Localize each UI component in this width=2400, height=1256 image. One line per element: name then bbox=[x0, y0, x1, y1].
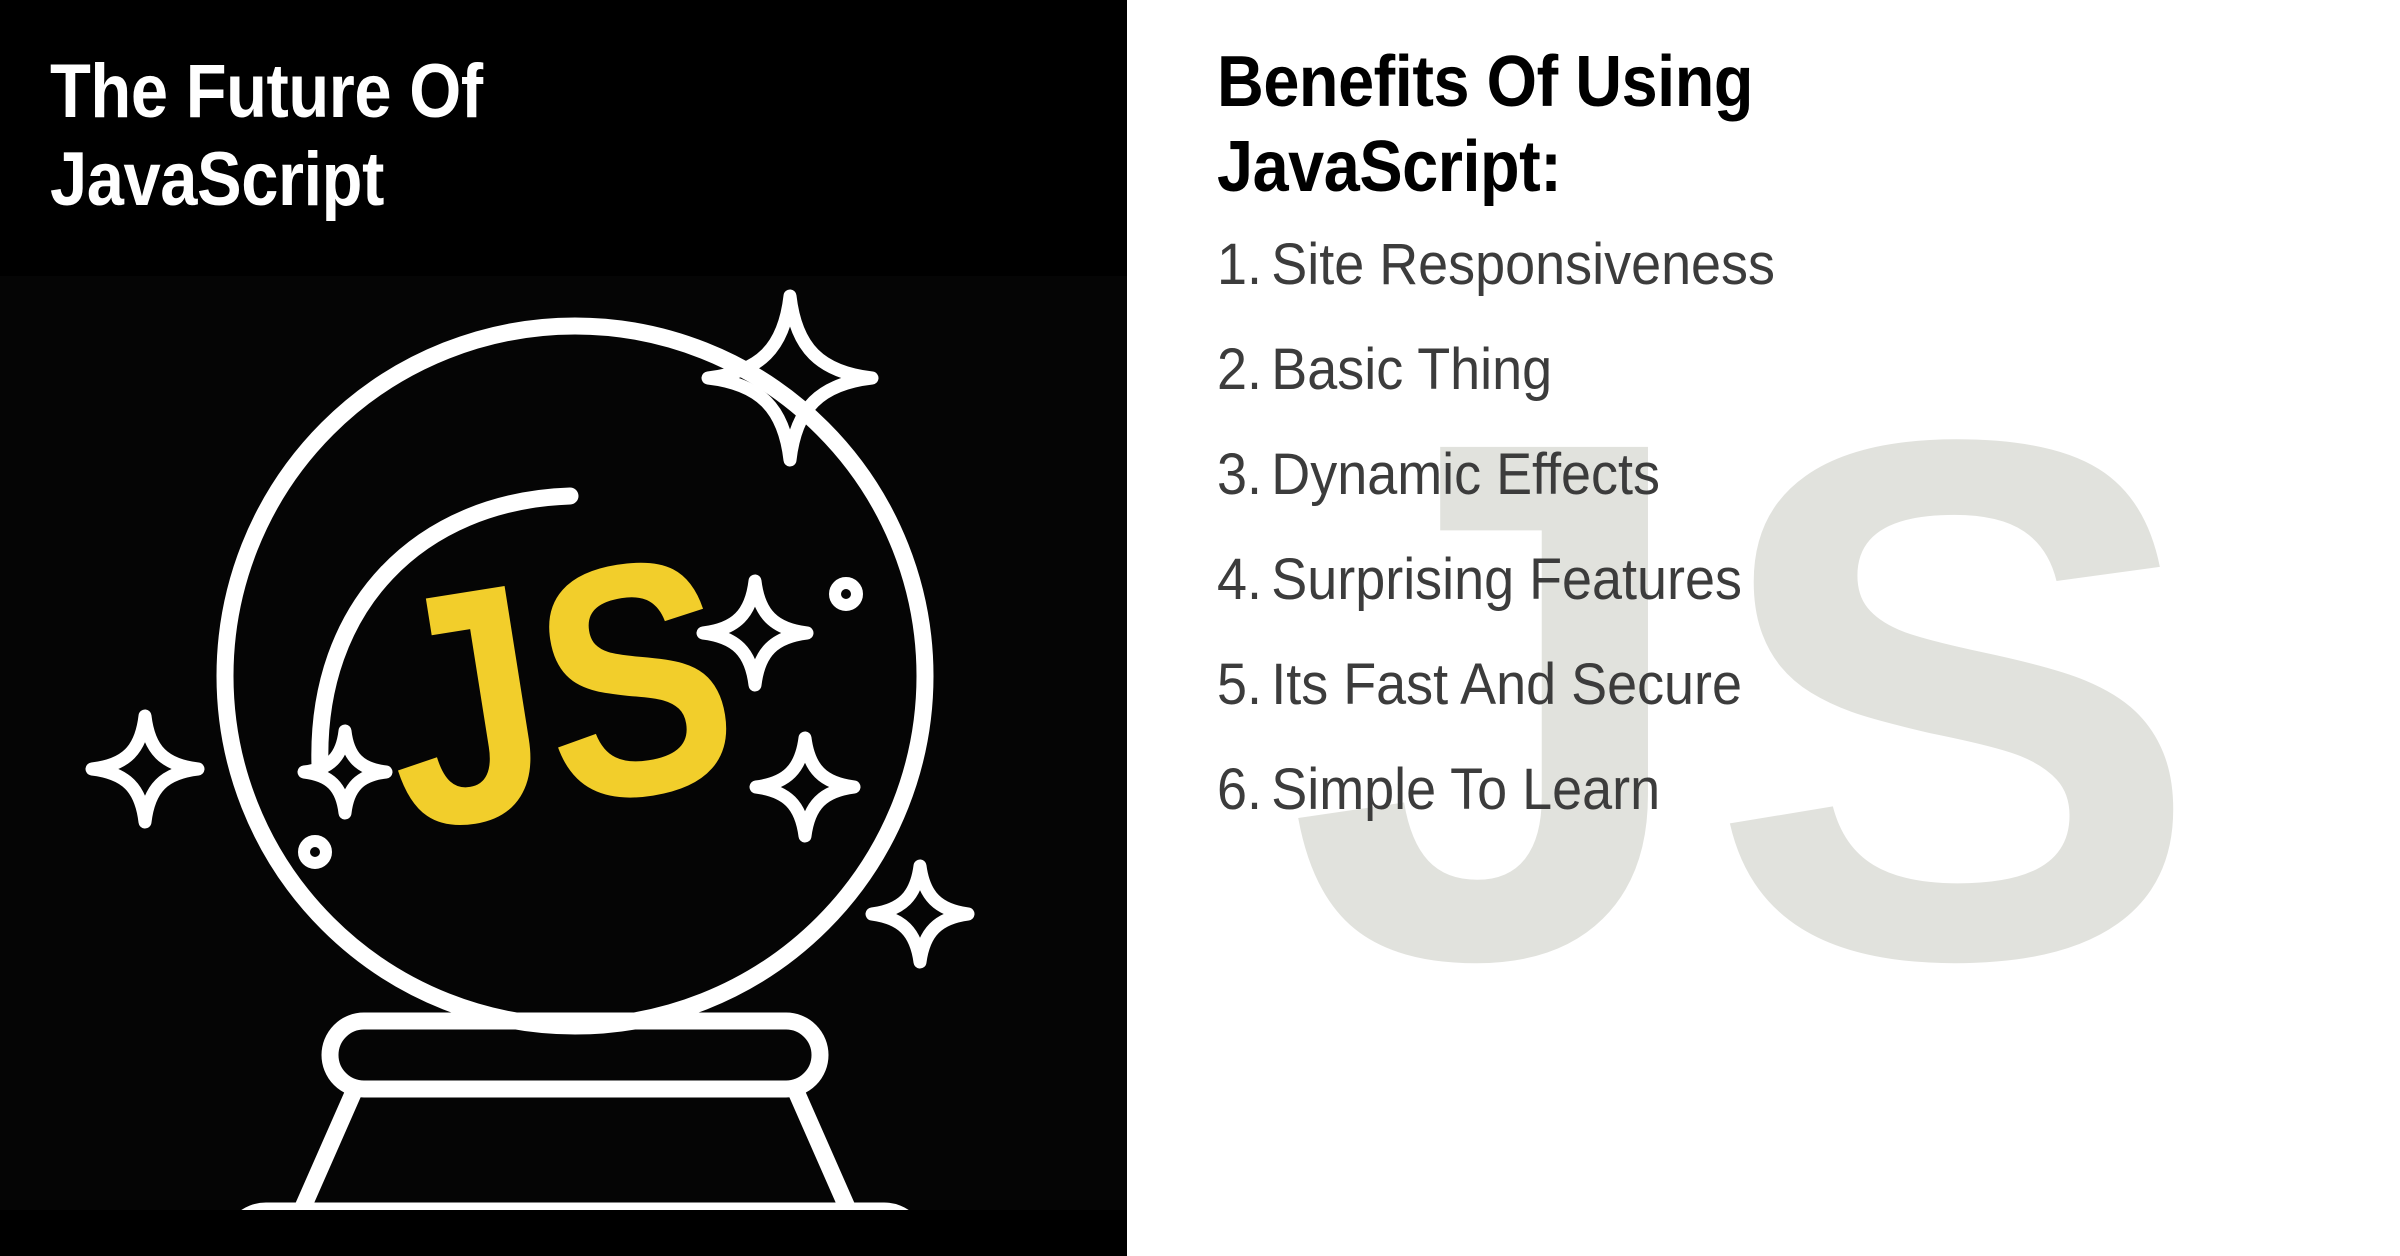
list-item: 2.Basic Thing bbox=[1217, 341, 2317, 399]
slide-root: The Future Of JavaScript bbox=[0, 0, 2400, 1256]
right-panel: JS Benefits Of Using JavaScript: 1.Site … bbox=[1127, 0, 2400, 1256]
crystal-ball-illustration: JS bbox=[0, 276, 1127, 1210]
benefits-content: Benefits Of Using JavaScript: 1.Site Res… bbox=[1127, 0, 2400, 819]
list-item-number: 5. bbox=[1217, 652, 1262, 717]
sparkle-icon-right-inner bbox=[756, 738, 854, 836]
list-item-number: 2. bbox=[1217, 337, 1262, 402]
list-item: 3.Dynamic Effects bbox=[1217, 446, 2317, 504]
list-item-number: 6. bbox=[1217, 757, 1262, 822]
list-item: 5.Its Fast And Secure bbox=[1217, 656, 2317, 714]
list-item-label: Dynamic Effects bbox=[1271, 442, 1660, 507]
list-item: 4.Surprising Features bbox=[1217, 551, 2317, 609]
sparkle-dot-icon-right bbox=[835, 583, 857, 605]
orb-js-label: JS bbox=[357, 483, 758, 902]
list-item-number: 4. bbox=[1217, 547, 1262, 612]
list-item-label: Simple To Learn bbox=[1271, 757, 1660, 822]
stand-stem-icon bbox=[300, 1089, 850, 1210]
benefits-list: 1.Site Responsiveness 2.Basic Thing 3.Dy… bbox=[1217, 236, 2400, 819]
list-item-label: Basic Thing bbox=[1271, 337, 1552, 402]
benefits-heading: Benefits Of Using JavaScript: bbox=[1217, 40, 2282, 210]
list-item-number: 3. bbox=[1217, 442, 1262, 507]
list-item: 6.Simple To Learn bbox=[1217, 761, 2317, 819]
list-item-label: Surprising Features bbox=[1271, 547, 1742, 612]
list-item-label: Site Responsiveness bbox=[1271, 232, 1775, 297]
left-panel: The Future Of JavaScript bbox=[0, 0, 1127, 1256]
list-item-label: Its Fast And Secure bbox=[1271, 652, 1742, 717]
sparkle-dot-icon-left bbox=[304, 841, 326, 863]
sparkle-icon-large bbox=[708, 296, 872, 460]
page-title: The Future Of JavaScript bbox=[50, 48, 930, 224]
sparkle-icon-outer-right bbox=[872, 866, 968, 962]
sparkle-icon-outer-left bbox=[92, 716, 198, 822]
list-item: 1.Site Responsiveness bbox=[1217, 236, 2317, 294]
list-item-number: 1. bbox=[1217, 232, 1262, 297]
